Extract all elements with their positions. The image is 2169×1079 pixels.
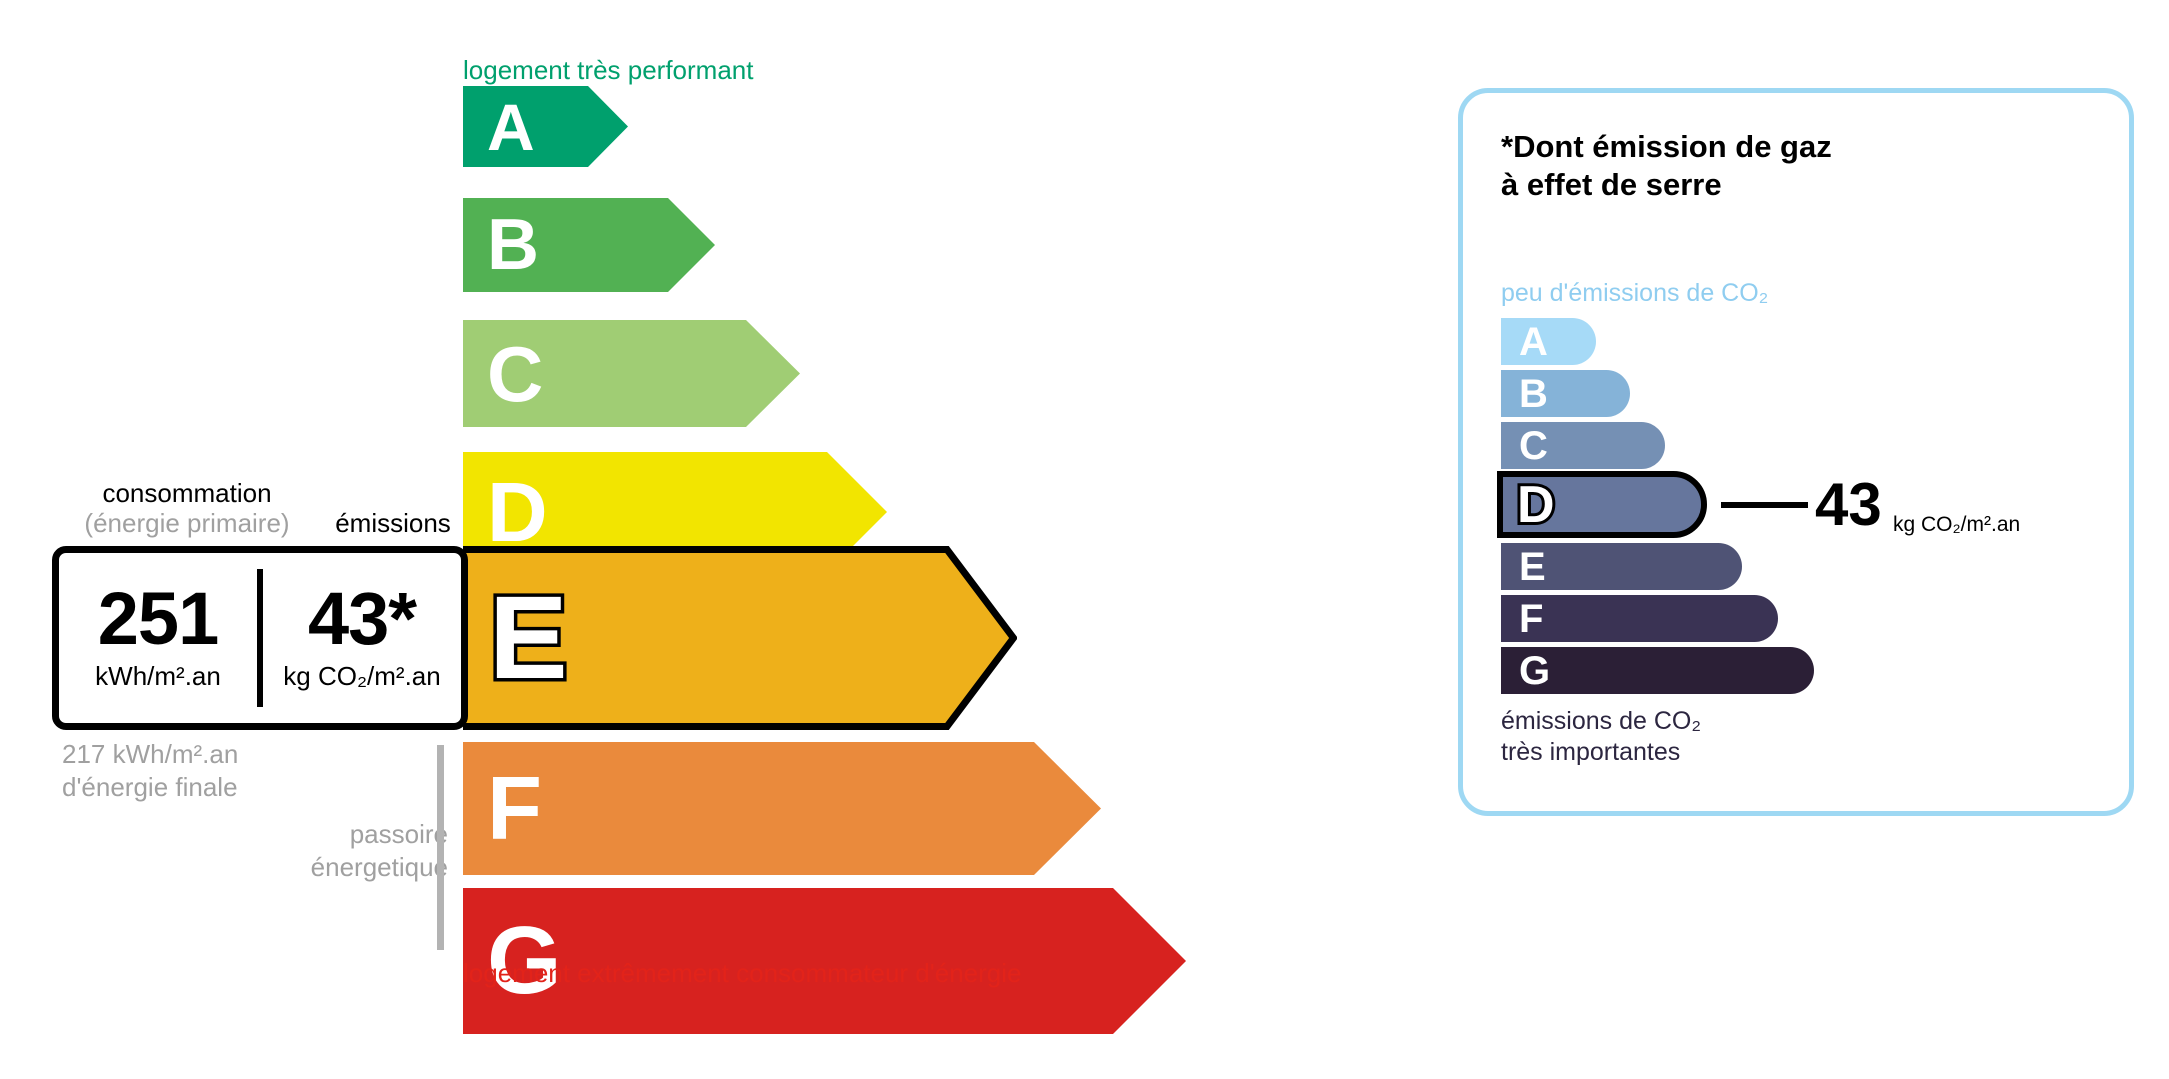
final-energy-note: 217 kWh/m².an d'énergie finale (62, 738, 238, 805)
consumption-cell: 251 kWh/m².an (59, 553, 257, 723)
ges-panel: *Dont émission de gaz à effet de serre p… (1458, 88, 2134, 816)
energy-band-f-shape (463, 742, 1101, 875)
ges-bar-a-letter: A (1519, 322, 1548, 362)
ges-bar-c-letter: C (1519, 426, 1548, 466)
ges-bar-f-letter: F (1519, 599, 1543, 639)
ges-bar-f: F (1501, 595, 1778, 642)
final-energy-line1: 217 kWh/m².an (62, 738, 238, 771)
consumption-value: 251 (98, 584, 218, 654)
ges-bar-b: B (1501, 370, 1630, 417)
dpe-infographic: logement très performant A B C (0, 0, 2169, 1079)
consumption-unit: kWh/m².an (95, 661, 221, 692)
energy-band-a: A (463, 86, 628, 167)
passoire-line1: passoire (258, 818, 448, 851)
ges-bottom-line1: émissions de CO₂ (1501, 706, 1701, 737)
ges-callout-unit: kg CO₂/m².an (1893, 513, 2020, 537)
ges-bar-e: E (1501, 543, 1742, 590)
energy-band-b: B (463, 198, 715, 292)
ges-title-line1: *Dont émission de gaz (1501, 128, 1832, 166)
energy-top-caption: logement très performant (463, 55, 753, 86)
primary-energy-label: (énergie primaire) (47, 508, 327, 539)
ges-title-line2: à effet de serre (1501, 166, 1832, 204)
ges-bar-c: C (1501, 422, 1665, 469)
energy-band-d-letter: D (487, 470, 548, 554)
value-box: 251 kWh/m².an 43* kg CO₂/m².an (52, 546, 468, 730)
ges-bottom-line2: très importantes (1501, 737, 1701, 768)
energy-band-f: F (463, 742, 1101, 875)
energy-band-e-letter: E (489, 579, 568, 697)
emission-unit: kg CO₂/m².an (283, 661, 440, 692)
ges-bar-d: D (1497, 471, 1707, 538)
final-energy-line2: d'énergie finale (62, 771, 238, 804)
ges-bar-e-letter: E (1519, 547, 1546, 587)
ges-bar-g: G (1501, 647, 1814, 694)
energy-band-e: E (463, 546, 1017, 730)
ges-callout-leader-line (1721, 502, 1808, 508)
emissions-label: émissions (300, 508, 486, 539)
ges-bottom-caption: émissions de CO₂ très importantes (1501, 706, 1701, 767)
energy-band-c-letter: C (487, 335, 543, 413)
energy-band-f-letter: F (487, 764, 542, 854)
ges-bar-b-letter: B (1519, 374, 1548, 414)
ges-panel-title: *Dont émission de gaz à effet de serre (1501, 128, 1832, 204)
emission-value: 43* (308, 584, 416, 654)
energy-bottom-caption: logement extrêmement consommateur d'éner… (463, 958, 1021, 989)
passoire-line2: énergetique (258, 851, 448, 884)
ges-callout-value: 43 (1815, 475, 1882, 535)
passoire-divider-line (437, 745, 444, 950)
ges-bar-d-letter: D (1517, 479, 1555, 531)
passoire-note: passoire énergetique (258, 818, 448, 885)
energy-band-c: C (463, 320, 800, 427)
energy-consumption-chart: logement très performant A B C (0, 0, 1300, 1079)
energy-band-b-letter: B (487, 209, 539, 281)
ges-bar-a: A (1501, 318, 1596, 365)
ges-bar-g-letter: G (1519, 651, 1550, 691)
consumption-label: consommation (62, 478, 312, 509)
emission-cell: 43* kg CO₂/m².an (263, 553, 461, 723)
energy-band-a-letter: A (487, 94, 535, 160)
ges-top-caption: peu d'émissions de CO₂ (1501, 279, 1768, 308)
